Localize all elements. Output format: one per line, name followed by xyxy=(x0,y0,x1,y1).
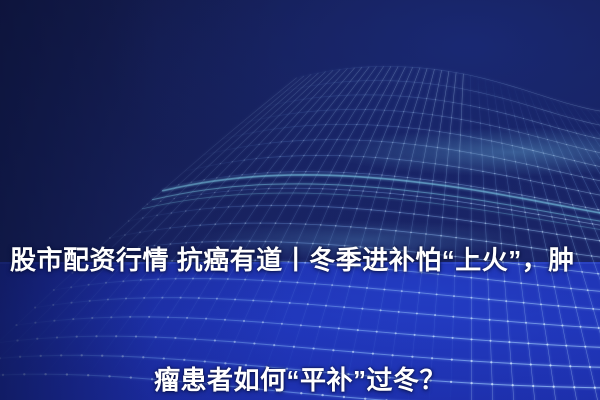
banner-image: 股市配资行情 抗癌有道丨冬季进补怕“上火”，肿 瘤患者如何“平补”过冬？ xyxy=(0,0,600,400)
headline-text: 股市配资行情 抗癌有道丨冬季进补怕“上火”，肿 瘤患者如何“平补”过冬？ xyxy=(0,160,600,400)
headline-line-2: 瘤患者如何“平补”过冬？ xyxy=(8,360,592,400)
headline-line-1: 股市配资行情 抗癌有道丨冬季进补怕“上火”，肿 xyxy=(8,240,592,280)
